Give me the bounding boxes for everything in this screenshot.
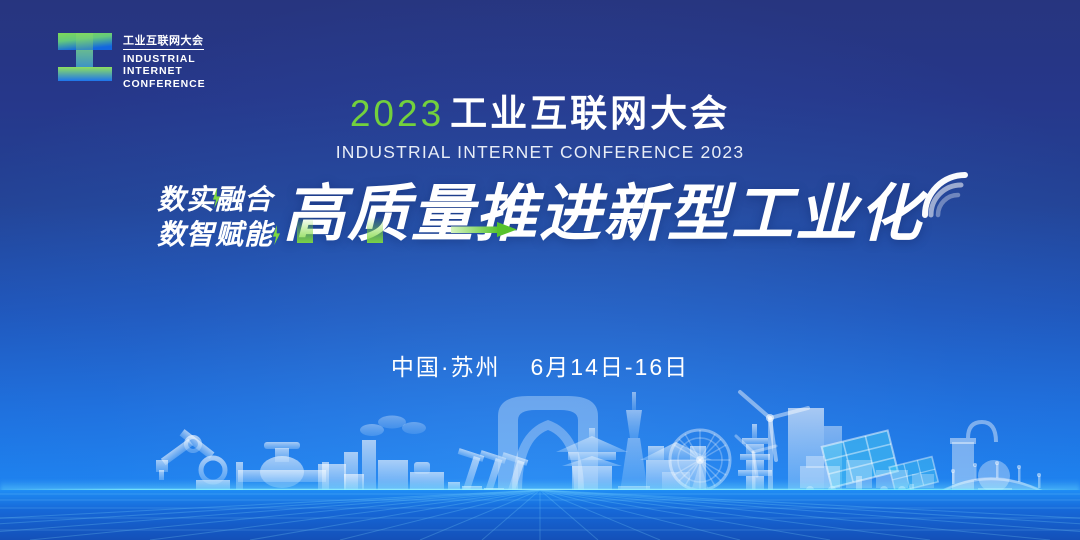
brand-logo-text: 工业互联网大会 INDUSTRIAL INTERNET CONFERENCE bbox=[123, 34, 206, 91]
slogan-small-line-1: 数实融合 bbox=[157, 182, 273, 217]
title-year: 2023 bbox=[350, 93, 444, 134]
title-name-cn: 工业互联网大会 bbox=[450, 93, 730, 134]
industrial-i-beam-logo-icon bbox=[57, 31, 113, 93]
slogan-small-block: 数实融合 数智赋能 bbox=[157, 178, 273, 252]
gate-of-the-orient-icon bbox=[92, 402, 180, 492]
wifi-signal-icon bbox=[915, 165, 969, 219]
slogan-small-text-2: 数智赋能 bbox=[157, 219, 273, 250]
lightning-bolt-icon bbox=[272, 225, 281, 245]
tv-tower-icon bbox=[618, 392, 650, 492]
brand-logo[interactable]: 工业互联网大会 INDUSTRIAL INTERNET CONFERENCE bbox=[57, 31, 206, 93]
page-title: 2023工业互联网大会 bbox=[0, 92, 1080, 136]
slogan-main-text: 高质量推进新型工业化 bbox=[283, 180, 923, 249]
brand-logo-en-2: INTERNET bbox=[123, 65, 206, 78]
slogan-main-wrap: 高质量推进新型工业化 bbox=[283, 179, 923, 251]
brand-logo-en-1: INDUSTRIAL bbox=[123, 53, 206, 66]
brand-logo-cn: 工业互联网大会 bbox=[123, 35, 204, 51]
title-subtitle-en: INDUSTRIAL INTERNET CONFERENCE 2023 bbox=[0, 142, 1080, 163]
pagoda-icon bbox=[16, 464, 20, 474]
perspective-grid bbox=[0, 490, 1080, 540]
gate-of-the-orient-icon bbox=[498, 396, 598, 492]
brand-logo-en-3: CONFERENCE bbox=[123, 78, 206, 91]
conference-banner: 工业互联网大会 INDUSTRIAL INTERNET CONFERENCE 2… bbox=[0, 0, 1080, 540]
slogan-block: 数实融合 数智赋能 高质量推进新型工业化 bbox=[0, 178, 1080, 252]
slogan-small-line-2: 数智赋能 bbox=[157, 217, 273, 252]
perspective-ground bbox=[0, 490, 1080, 540]
title-block: 2023工业互联网大会 INDUSTRIAL INTERNET CONFEREN… bbox=[0, 92, 1080, 163]
city-skyline bbox=[0, 360, 1080, 540]
